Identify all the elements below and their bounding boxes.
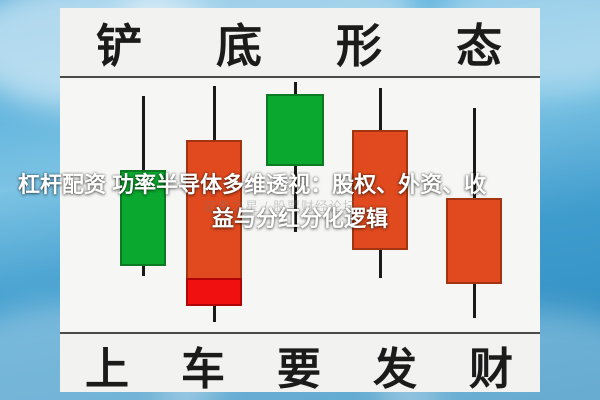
overlay-headline-line2: 益与分红分化逻辑 [18,202,582,236]
banner-top: 铲 底 形 态 [60,12,540,74]
banner-top-char: 态 [456,10,504,76]
banner-bottom-char: 财 [469,333,515,397]
candle-body-strong-red [186,278,242,306]
banner-bottom-char: 上 [85,333,131,397]
banner-top-char: 底 [216,10,264,76]
screenshot-stage: 铲 底 形 态 [0,0,600,400]
banner-bottom: 上 车 要 发 财 [60,336,540,394]
banner-top-char: 铲 [96,10,144,76]
banner-top-char: 形 [336,10,384,76]
overlay-headline-line1: 杠杆配资 功率半导体多维透视：股权、外资、收 [18,172,486,197]
banner-bottom-char: 车 [181,333,227,397]
candle-body-down [266,94,324,166]
banner-bottom-char: 要 [277,333,323,397]
overlay-headline: 杠杆配资 功率半导体多维透视：股权、外资、收 益与分红分化逻辑 [18,168,582,236]
banner-bottom-char: 发 [373,333,419,397]
